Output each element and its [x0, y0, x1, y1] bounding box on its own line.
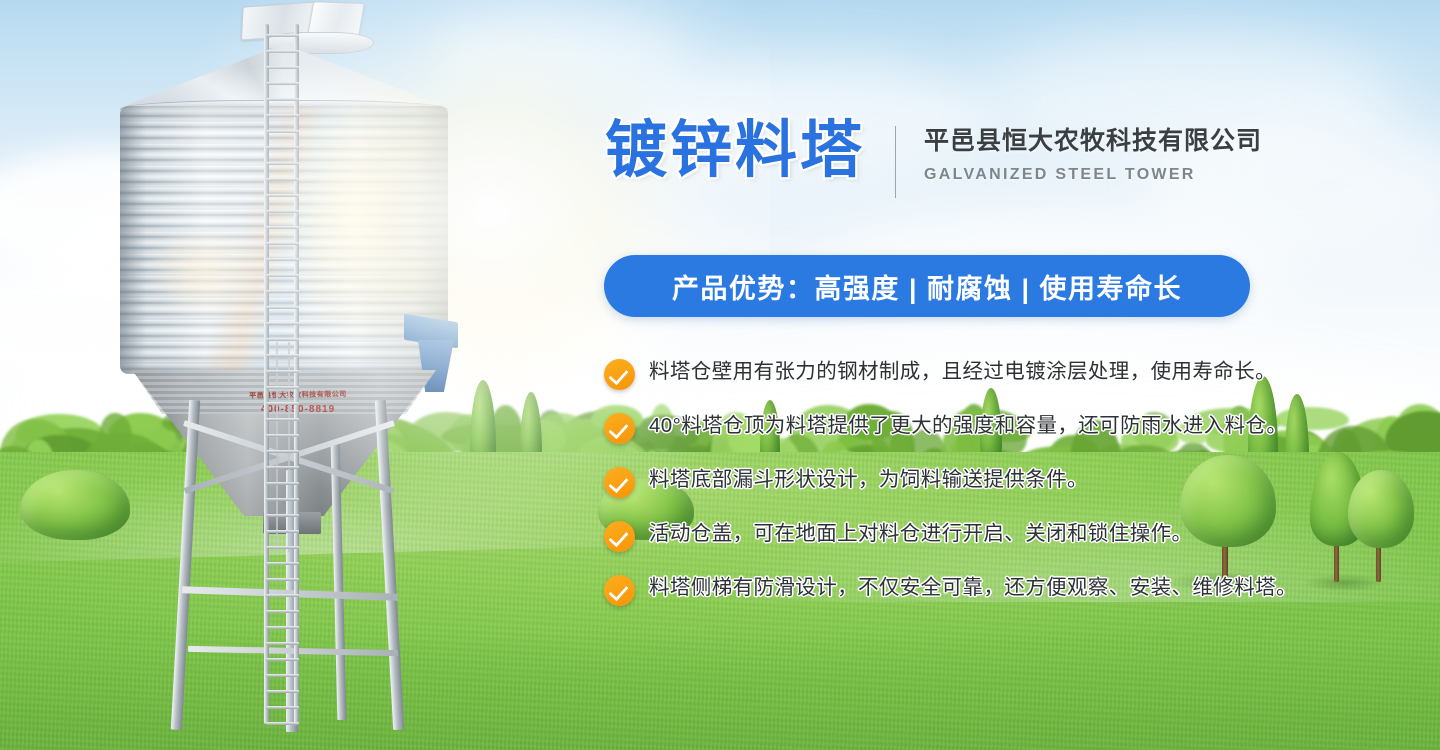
banner-content: 镀锌料塔 平邑县恒大农牧科技有限公司 GALVANIZED STEEL TOWE…	[600, 0, 1440, 750]
ladder-rung	[266, 194, 299, 197]
ladder-rung	[266, 146, 299, 149]
feature-item: 40°料塔仓顶为料塔提供了更大的强度和容量，还可防雨水进入料仓。	[604, 412, 1304, 444]
feature-text: 40°料塔仓顶为料塔提供了更大的强度和容量，还可防雨水进入料仓。	[649, 412, 1287, 440]
ladder-rung	[266, 642, 299, 645]
ladder-rung	[266, 498, 299, 501]
check-circle-icon	[604, 467, 635, 498]
ladder-rung	[266, 386, 299, 389]
ladder-rung	[266, 610, 299, 613]
ladder-rung	[266, 290, 299, 293]
ladder-rung	[266, 722, 299, 725]
ladder-rung	[266, 562, 299, 565]
feature-text: 活动仓盖，可在地面上对料仓进行开启、关闭和锁住操作。	[649, 520, 1192, 548]
ladder-rung	[266, 514, 299, 517]
ladder-rung	[266, 466, 299, 469]
ladder-rung	[266, 530, 299, 533]
ladder-rung	[266, 482, 299, 485]
ladder-rung	[266, 50, 299, 53]
company-subtitle-en: GALVANIZED STEEL TOWER	[924, 166, 1262, 184]
ladder-rung	[266, 354, 299, 357]
company-block: 平邑县恒大农牧科技有限公司 GALVANIZED STEEL TOWER	[924, 120, 1262, 184]
feature-text: 料塔仓壁用有张力的钢材制成，且经过电镀涂层处理，使用寿命长。	[649, 358, 1276, 386]
silo-support-leg	[171, 400, 200, 730]
silo-support-leg	[375, 400, 404, 730]
ladder-rung	[266, 98, 299, 101]
ladder-rung	[266, 66, 299, 69]
feature-item: 活动仓盖，可在地面上对料仓进行开启、关闭和锁住操作。	[604, 520, 1304, 552]
advantage-badge: 产品优势：高强度 | 耐腐蚀 | 使用寿命长	[604, 255, 1250, 317]
ladder-rung	[266, 34, 299, 37]
galvanized-feed-silo-image: 平邑县恒大农牧科技有限公司 400-850-8819	[88, 0, 518, 750]
feature-text: 料塔底部漏斗形状设计，为饲料输送提供条件。	[649, 466, 1088, 494]
hero-banner: 平邑县恒大农牧科技有限公司 400-850-8819 镀锌料塔 平邑县恒大农牧科…	[0, 0, 1440, 750]
feature-item: 料塔仓壁用有张力的钢材制成，且经过电镀涂层处理，使用寿命长。	[604, 358, 1304, 390]
ladder-rung	[266, 418, 299, 421]
ladder-rung	[266, 322, 299, 325]
feature-text: 料塔侧梯有防滑设计，不仅安全可靠，还方便观察、安装、维修料塔。	[649, 574, 1297, 602]
ladder-rung	[266, 658, 299, 661]
ladder-rung	[266, 434, 299, 437]
ladder-rung	[266, 242, 299, 245]
feature-list: 料塔仓壁用有张力的钢材制成，且经过电镀涂层处理，使用寿命长。40°料塔仓顶为料塔…	[604, 358, 1304, 628]
ladder-rung	[266, 578, 299, 581]
ladder-rung	[266, 82, 299, 85]
check-circle-icon	[604, 413, 635, 444]
company-name: 平邑县恒大农牧科技有限公司	[924, 126, 1262, 157]
ladder-rail	[294, 24, 299, 724]
ladder-rung	[266, 306, 299, 309]
ladder-rung	[266, 402, 299, 405]
ladder-rung	[266, 210, 299, 213]
check-circle-icon	[604, 521, 635, 552]
ladder-rung	[266, 674, 299, 677]
ladder-rung	[266, 226, 299, 229]
ladder-rung	[266, 370, 299, 373]
ladder-rung	[266, 274, 299, 277]
ladder-rung	[266, 338, 299, 341]
ladder-rung	[266, 626, 299, 629]
ladder-rung	[266, 546, 299, 549]
ladder-rail	[264, 24, 269, 724]
ladder-rung	[266, 706, 299, 709]
ladder-rung	[266, 130, 299, 133]
ladder-rung	[266, 690, 299, 693]
advantage-badge-label: 产品优势：高强度 | 耐腐蚀 | 使用寿命长	[672, 267, 1182, 306]
feature-item: 料塔底部漏斗形状设计，为饲料输送提供条件。	[604, 466, 1304, 498]
silo-side-ladder	[264, 24, 300, 724]
check-circle-icon	[604, 359, 635, 390]
feature-item: 料塔侧梯有防滑设计，不仅安全可靠，还方便观察、安装、维修料塔。	[604, 574, 1304, 606]
ladder-rung	[266, 114, 299, 117]
title-divider	[895, 126, 896, 198]
ladder-safety-cage	[276, 342, 290, 552]
ladder-rung	[266, 594, 299, 597]
ladder-rung	[266, 258, 299, 261]
check-circle-icon	[604, 575, 635, 606]
page-title: 镀锌料塔	[605, 120, 865, 182]
ladder-rung	[266, 178, 299, 181]
ladder-rung	[266, 450, 299, 453]
title-row: 镀锌料塔 平邑县恒大农牧科技有限公司 GALVANIZED STEEL TOWE…	[605, 120, 1262, 198]
ladder-rung	[266, 162, 299, 165]
